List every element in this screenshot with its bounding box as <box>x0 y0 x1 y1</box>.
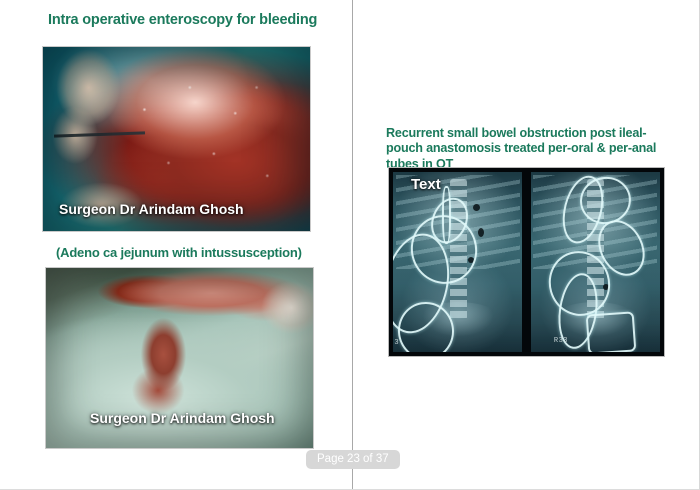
xray-overlay-text-label: Text <box>411 176 441 193</box>
slide-divider <box>352 0 353 490</box>
photo-caption-surgeon: Surgeon Dr Arindam Ghosh <box>59 201 244 217</box>
film-marker-left: 3 <box>394 339 399 347</box>
xray-film-right: R33 <box>531 172 660 352</box>
adeno-ca-jejunum-photo[interactable]: Surgeon Dr Arindam Ghosh <box>45 267 314 449</box>
film-marker-right: R33 <box>554 337 568 345</box>
xray-film-left: 3 <box>393 172 522 352</box>
page-subtitle-adeno-ca: (Adeno ca jejunum with intussusception) <box>56 245 336 261</box>
page-title-enteroscopy: Intra operative enteroscopy for bleeding <box>48 12 338 30</box>
page-indicator: Page 23 of 37 <box>306 450 400 469</box>
photo-caption-surgeon: Surgeon Dr Arindam Ghosh <box>90 410 275 426</box>
intra-operative-enteroscopy-photo[interactable]: Surgeon Dr Arindam Ghosh <box>42 46 311 232</box>
page-title-recurrent-obstruction: Recurrent small bowel obstruction post i… <box>386 126 676 172</box>
presentation-page: Intra operative enteroscopy for bleeding… <box>0 0 700 490</box>
abdominal-xray-pair[interactable]: 3 R33 Text <box>388 167 665 357</box>
tube-loop-pelvic <box>586 311 637 352</box>
tube-segment <box>442 186 451 244</box>
